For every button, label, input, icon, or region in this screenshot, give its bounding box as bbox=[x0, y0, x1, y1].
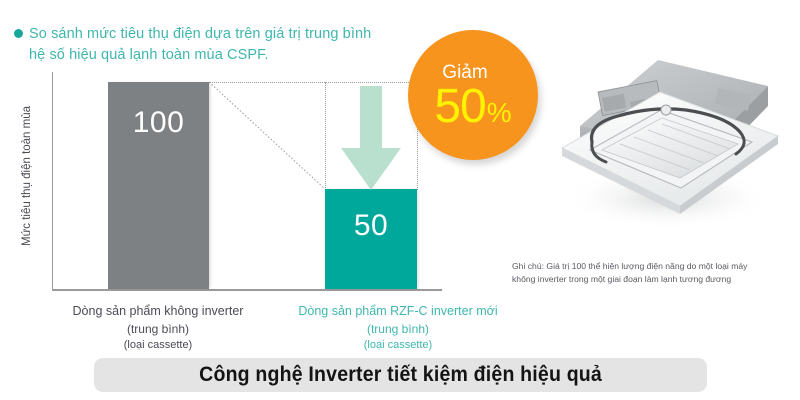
infographic-canvas: So sánh mức tiêu thụ điện dựa trên giá t… bbox=[0, 0, 800, 400]
category-label-right: Dòng sản phẩm RZF-C inverter mới (trung … bbox=[258, 303, 538, 353]
header-line-2: hệ số hiệu quả lạnh toàn mùa CSPF. bbox=[29, 45, 371, 66]
bar-value-rzf-c-inverter: 50 bbox=[354, 211, 388, 289]
bar-no-inverter: 100 bbox=[108, 82, 209, 289]
y-axis-label: Mức tiêu thụ điện toàn mùa bbox=[21, 76, 33, 276]
header-note: So sánh mức tiêu thụ điện dựa trên giá t… bbox=[14, 24, 424, 66]
category-left-sub2: (loại cassette) bbox=[18, 338, 298, 354]
down-arrow-icon bbox=[340, 86, 402, 191]
bullet-dot-icon bbox=[14, 29, 23, 38]
category-right-sub: (trung bình) bbox=[258, 321, 538, 338]
badge-value-group: 50 % bbox=[434, 83, 511, 131]
footnote-line-1: Ghi chú: Giá trị 100 thể hiện lượng điện… bbox=[512, 260, 797, 273]
product-image-cassette-ac bbox=[540, 48, 790, 248]
badge-content: Giảm 50 % bbox=[408, 30, 538, 160]
header-line-1: So sánh mức tiêu thụ điện dựa trên giá t… bbox=[29, 24, 371, 45]
x-axis-line bbox=[52, 289, 442, 291]
y-axis-line bbox=[52, 72, 53, 290]
header-text-block: So sánh mức tiêu thụ điện dựa trên giá t… bbox=[29, 24, 371, 66]
bottom-banner: Công nghệ Inverter tiết kiệm điện hiệu q… bbox=[94, 358, 707, 392]
bar-value-no-inverter: 100 bbox=[133, 108, 185, 289]
guide-line-diagonal bbox=[209, 82, 325, 189]
category-left-title: Dòng sản phẩm không inverter bbox=[18, 303, 298, 321]
bar-rzf-c-inverter: 50 bbox=[325, 189, 417, 289]
guide-line-vertical-left bbox=[325, 82, 326, 190]
footnote-line-2: không inverter trong một giai đoạn làm l… bbox=[512, 273, 797, 286]
discount-badge: Giảm 50 % bbox=[408, 30, 538, 160]
category-right-sub2: (loại cassette) bbox=[258, 338, 538, 354]
footnote: Ghi chú: Giá trị 100 thể hiện lượng điện… bbox=[512, 260, 797, 287]
badge-number: 50 bbox=[434, 83, 485, 131]
category-left-sub: (trung bình) bbox=[18, 321, 298, 338]
badge-percent-sign: % bbox=[487, 99, 512, 127]
category-label-left: Dòng sản phẩm không inverter (trung bình… bbox=[18, 303, 298, 353]
category-right-title: Dòng sản phẩm RZF-C inverter mới bbox=[258, 303, 538, 321]
bottom-banner-text: Công nghệ Inverter tiết kiệm điện hiệu q… bbox=[199, 363, 602, 387]
